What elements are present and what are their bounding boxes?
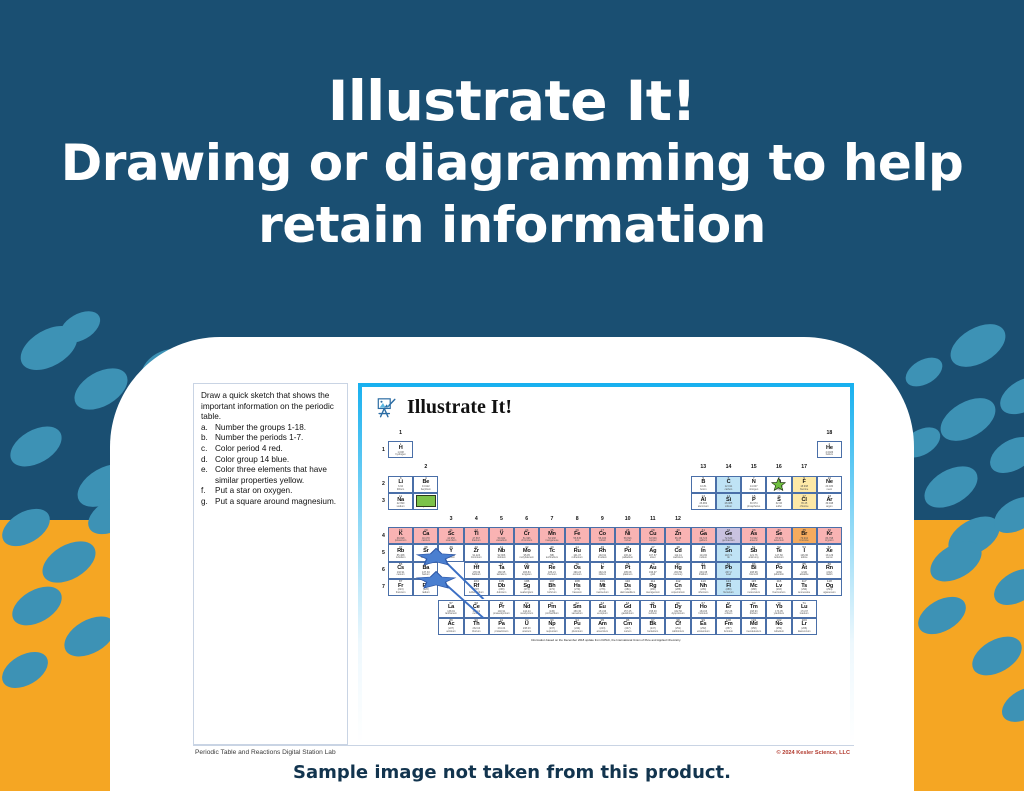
element-name: bromine — [800, 540, 809, 543]
element-name: roentgenium — [646, 592, 660, 595]
grid-spacer — [640, 441, 665, 458]
element-cell[interactable]: 26Fe55.845iron — [565, 527, 590, 544]
period-number-label: 7 — [379, 579, 388, 596]
element-name: strontium — [421, 557, 431, 560]
grid-spacer — [539, 493, 564, 510]
group-number-label: 2 — [413, 458, 438, 475]
element-name: beryllium — [421, 489, 431, 492]
element-cell[interactable]: 42Mo95.95molybdenum — [514, 544, 539, 561]
element-cell[interactable]: 8O15.999oxygen — [766, 476, 791, 493]
element-name: rutherfordium — [469, 592, 484, 595]
element-name: oganesson — [823, 592, 835, 595]
element-cell[interactable]: 91Pa231.04protactinium — [489, 618, 514, 635]
grid-spacer — [590, 476, 615, 493]
element-cell[interactable]: 56Ba137.33barium — [413, 562, 438, 579]
element-cell[interactable]: 110Ds(281)darmstadtium — [615, 579, 640, 596]
group-number-label: 16 — [766, 458, 791, 475]
element-name: platinum — [623, 574, 632, 577]
element-name: mendelevium — [746, 631, 761, 634]
worksheet-footer-right: © 2024 Kesler Science, LLC — [777, 750, 850, 756]
group-number-label: 11 — [640, 510, 665, 527]
element-cell[interactable]: 111Rg(280)roentgenium — [640, 579, 665, 596]
element-cell[interactable]: 115Mc(288)moscovium — [741, 579, 766, 596]
element-name: copper — [649, 540, 657, 543]
element-name: radium — [422, 592, 430, 595]
element-name: americium — [597, 631, 609, 634]
element-cell[interactable]: 40Zr91.224zirconium — [464, 544, 489, 561]
element-cell[interactable]: 105Db(268)dubnium — [489, 579, 514, 596]
element-cell[interactable]: 3Li6.94lithium — [388, 476, 413, 493]
grid-spacer — [615, 493, 640, 510]
element-cell[interactable]: 9F18.998fluorine — [792, 476, 817, 493]
period-number-label: 1 — [379, 441, 388, 458]
element-name: tungsten — [522, 574, 532, 577]
group-number-label: 4 — [464, 510, 489, 527]
element-name: hydrogen — [395, 454, 405, 457]
element-name: cobalt — [599, 540, 606, 543]
element-cell[interactable]: 37Rb85.468rubidium — [388, 544, 413, 561]
grid-spacer — [766, 441, 791, 458]
element-name: tin — [727, 557, 730, 560]
instruction-item: c.Color period 4 red. — [201, 444, 341, 455]
element-cell[interactable]: 48Cd112.41cadmium — [665, 544, 690, 561]
grid-spacer — [464, 493, 489, 510]
element-cell[interactable]: 107Bh(272)bohrium — [539, 579, 564, 596]
instructions-panel: Draw a quick sketch that shows the impor… — [193, 383, 348, 745]
element-name: calcium — [422, 540, 430, 543]
group-number-label: 15 — [741, 458, 766, 475]
element-cell[interactable]: 90Th232.04thorium — [464, 618, 489, 635]
group-number-label: 1 — [388, 424, 413, 441]
element-cell[interactable]: 13Al26.982aluminum — [691, 493, 716, 510]
element-cell[interactable]: 51Sb121.76antimony — [741, 544, 766, 561]
element-cell[interactable]: 32Ge72.630germanium — [716, 527, 741, 544]
grid-spacer — [716, 441, 741, 458]
element-cell[interactable]: 36Kr83.798krypton — [817, 527, 842, 544]
element-name: neon — [827, 489, 833, 492]
grid-spacer — [489, 424, 514, 441]
element-cell[interactable]: 49In114.82indium — [691, 544, 716, 561]
grid-spacer — [640, 493, 665, 510]
element-cell[interactable]: 12Mg24.305magnesium — [413, 493, 438, 510]
group-number-label: 12 — [665, 510, 690, 527]
element-cell[interactable]: 59Pr140.91praseodymium — [489, 600, 514, 617]
element-cell[interactable]: 84Po(209)polonium — [766, 562, 791, 579]
element-cell[interactable]: 77Ir192.22iridium — [590, 562, 615, 579]
grid-spacer — [489, 441, 514, 458]
element-cell[interactable]: 75Re186.21rhenium — [539, 562, 564, 579]
element-cell[interactable]: 20Ca40.078calcium — [413, 527, 438, 544]
element-name: iron — [575, 540, 579, 543]
element-cell[interactable]: 95Am(243)americium — [590, 618, 615, 635]
element-name: mercury — [674, 574, 683, 577]
element-name: nickel — [624, 540, 630, 543]
element-name: gold — [650, 574, 655, 577]
grid-spacer — [741, 424, 766, 441]
element-name: meitnerium — [596, 592, 608, 595]
element-cell[interactable]: 21Sc44.956scandium — [438, 527, 463, 544]
periodic-table-panel: Illustrate It! 11811H1.008hydrogen2He4.0… — [358, 383, 854, 745]
element-cell[interactable]: 82Pb207.2lead — [716, 562, 741, 579]
element-cell[interactable]: 86Rn(222)radon — [817, 562, 842, 579]
element-cell[interactable]: 43Tc(98)technetium — [539, 544, 564, 561]
element-cell[interactable]: 62Sm150.36samarium — [565, 600, 590, 617]
grid-spacer — [665, 441, 690, 458]
group-number-label: 10 — [615, 510, 640, 527]
grid-spacer — [464, 441, 489, 458]
element-cell[interactable]: 116Lv(293)livermorium — [766, 579, 791, 596]
grid-spacer — [792, 424, 817, 441]
element-cell[interactable]: 39Y88.906yttrium — [438, 544, 463, 561]
element-name: iridium — [599, 574, 606, 577]
element-cell[interactable]: 70Yb173.05ytterbium — [766, 600, 791, 617]
element-cell[interactable]: 1H1.008hydrogen — [388, 441, 413, 458]
element-name: carbon — [725, 489, 733, 492]
slide-canvas: Illustrate It! Drawing or diagramming to… — [0, 0, 1024, 791]
element-name: manganese — [545, 540, 558, 543]
element-cell[interactable]: 18Ar39.948argon — [817, 493, 842, 510]
grid-spacer — [817, 510, 842, 527]
element-cell[interactable]: 76Os190.23osmium — [565, 562, 590, 579]
element-cell[interactable]: 28Ni58.693nickel — [615, 527, 640, 544]
element-cell[interactable]: 22Ti47.867titanium — [464, 527, 489, 544]
grid-spacer — [640, 424, 665, 441]
instruction-marker: b. — [201, 433, 215, 444]
element-name: cerium — [473, 613, 481, 616]
group-number-label: 13 — [691, 458, 716, 475]
element-name: osmium — [573, 574, 582, 577]
instruction-item: f.Put a star on oxygen. — [201, 486, 341, 497]
element-cell[interactable]: 19K39.098potassium — [388, 527, 413, 544]
grid-spacer — [413, 510, 438, 527]
element-cell[interactable]: 4Be9.0122beryllium — [413, 476, 438, 493]
element-cell[interactable]: 87Fr(223)francium — [388, 579, 413, 596]
element-cell[interactable]: 63Eu151.96europium — [590, 600, 615, 617]
element-cell[interactable]: 88Ra(226)radium — [413, 579, 438, 596]
grid-spacer — [464, 458, 489, 475]
element-cell[interactable]: 15P30.974phosphorus — [741, 493, 766, 510]
element-name: uranium — [522, 631, 531, 634]
grid-spacer — [565, 424, 590, 441]
element-name: neptunium — [546, 631, 558, 634]
element-cell[interactable]: 78Pt195.08platinum — [615, 562, 640, 579]
element-cell[interactable]: 100Fm(257)fermium — [716, 618, 741, 635]
element-name: cadmium — [673, 557, 683, 560]
element-cell[interactable]: 102No(259)nobelium — [766, 618, 791, 635]
element-cell[interactable]: 54Xe131.29xenon — [817, 544, 842, 561]
element-cell[interactable]: 34Se78.971selenium — [766, 527, 791, 544]
element-name: cesium — [397, 574, 405, 577]
grid-spacer — [640, 476, 665, 493]
element-cell[interactable]: 14Si28.085silicon — [716, 493, 741, 510]
element-cell[interactable]: 38Sr87.62strontium — [413, 544, 438, 561]
grid-spacer — [413, 424, 438, 441]
element-name: iodine — [801, 557, 808, 560]
green-star-marker — [767, 477, 790, 492]
headline-line-3: retain information — [0, 194, 1024, 256]
element-cell[interactable]: 99Es(252)einsteinium — [691, 618, 716, 635]
element-cell[interactable]: 74W183.84tungsten — [514, 562, 539, 579]
element-name: palladium — [622, 557, 633, 560]
element-cell[interactable]: 29Cu63.546copper — [640, 527, 665, 544]
element-name: scandium — [446, 540, 457, 543]
element-cell[interactable]: 97Bk(247)berkelium — [640, 618, 665, 635]
element-cell[interactable]: 10Ne20.180neon — [817, 476, 842, 493]
element-cell[interactable]: 114Fl(289)flerovium — [716, 579, 741, 596]
instruction-text: Color group 14 blue. — [215, 455, 341, 466]
element-cell[interactable]: 108Hs(270)hassium — [565, 579, 590, 596]
element-name: neodymium — [520, 613, 533, 616]
element-name: darmstadtium — [620, 592, 635, 595]
element-cell[interactable]: 69Tm168.93thulium — [741, 600, 766, 617]
element-name: argon — [826, 506, 832, 509]
instruction-item: d.Color group 14 blue. — [201, 455, 341, 466]
element-name: dubnium — [497, 592, 507, 595]
grid-spacer — [489, 476, 514, 493]
element-cell[interactable]: 80Hg200.59mercury — [665, 562, 690, 579]
element-name: dysprosium — [672, 613, 685, 616]
element-cell[interactable]: 58Ce140.12cerium — [464, 600, 489, 617]
grid-spacer — [438, 579, 463, 596]
element-name: thulium — [750, 613, 758, 616]
grid-spacer — [464, 424, 489, 441]
grid-spacer — [438, 458, 463, 475]
instructions-lead: Draw a quick sketch that shows the impor… — [201, 391, 341, 423]
element-cell[interactable]: 113Nh(284)nihonium — [691, 579, 716, 596]
instruction-text: Put a star on oxygen. — [215, 486, 341, 497]
grid-spacer — [691, 441, 716, 458]
grid-spacer — [817, 600, 842, 617]
grid-spacer — [691, 424, 716, 441]
grid-spacer — [615, 441, 640, 458]
grid-spacer — [615, 458, 640, 475]
grid-spacer — [640, 458, 665, 475]
element-cell[interactable]: 46Pd106.42palladium — [615, 544, 640, 561]
element-name: aluminum — [698, 506, 709, 509]
periodic-table-grid: 11811H1.008hydrogen2He4.0026helium213141… — [379, 424, 842, 596]
element-name: gallium — [699, 540, 707, 543]
grid-spacer — [590, 493, 615, 510]
group-number-label: 7 — [539, 510, 564, 527]
element-cell[interactable]: 30Zn65.38zinc — [665, 527, 690, 544]
grid-spacer — [489, 493, 514, 510]
green-square-marker — [416, 495, 436, 507]
element-name: francium — [396, 592, 406, 595]
worksheet-footer: Periodic Table and Reactions Digital Sta… — [193, 745, 854, 759]
period-number-label: 6 — [379, 562, 388, 579]
element-name: praseodymium — [493, 613, 509, 616]
element-cell[interactable]: 61Pm(145)promethium — [539, 600, 564, 617]
instruction-marker: c. — [201, 444, 215, 455]
period-number-label: 3 — [379, 493, 388, 510]
element-cell[interactable]: 50Sn118.71tin — [716, 544, 741, 561]
element-name: silicon — [725, 506, 732, 509]
instruction-text: Number the groups 1-18. — [215, 423, 341, 434]
element-name: hassium — [573, 592, 582, 595]
grid-spacer — [539, 424, 564, 441]
periodic-table-inner: Illustrate It! 11811H1.008hydrogen2He4.0… — [362, 387, 850, 741]
element-cell[interactable]: 35Br79.904bromine — [792, 527, 817, 544]
element-name: californium — [672, 631, 684, 634]
period-number-label: 2 — [379, 476, 388, 493]
element-name: tantalum — [497, 574, 507, 577]
instruction-text: Color period 4 red. — [215, 444, 341, 455]
element-name: rubidium — [396, 557, 406, 560]
element-cell[interactable]: 2He4.0026helium — [817, 441, 842, 458]
grid-spacer — [489, 458, 514, 475]
element-cell[interactable]: 55Cs132.91cesium — [388, 562, 413, 579]
grid-spacer — [741, 441, 766, 458]
grid-spacer — [539, 458, 564, 475]
element-cell[interactable]: 72Hf178.49hafnium — [464, 562, 489, 579]
element-name: xenon — [826, 557, 833, 560]
element-cell[interactable]: 92U238.03uranium — [514, 618, 539, 635]
headline-line-1: Illustrate It! — [0, 70, 1024, 132]
element-cell[interactable]: 57La138.91lanthanum — [438, 600, 463, 617]
instruction-marker: f. — [201, 486, 215, 497]
element-name: antimony — [749, 557, 759, 560]
slide-caption: Sample image not taken from this product… — [0, 762, 1024, 783]
grid-spacer — [615, 476, 640, 493]
element-name: radon — [826, 574, 832, 577]
element-cell[interactable]: 17Cl35.45chlorine — [792, 493, 817, 510]
element-cell[interactable]: 89Ac(227)actinium — [438, 618, 463, 635]
element-cell[interactable]: 16S32.06sulfur — [766, 493, 791, 510]
grid-spacer — [388, 458, 413, 475]
element-cell[interactable]: 31Ga69.723gallium — [691, 527, 716, 544]
element-cell[interactable]: 93Np(237)neptunium — [539, 618, 564, 635]
element-cell[interactable]: 101Md(258)mendelevium — [741, 618, 766, 635]
element-cell[interactable]: 104Rf(267)rutherfordium — [464, 579, 489, 596]
periodic-table-wrap: 11811H1.008hydrogen2He4.0026helium213141… — [370, 424, 842, 635]
group-number-label: 3 — [438, 510, 463, 527]
element-cell[interactable]: 109Mt(276)meitnerium — [590, 579, 615, 596]
element-cell[interactable]: 71Lu174.97lutetium — [792, 600, 817, 617]
element-cell[interactable]: 47Ag107.87silver — [640, 544, 665, 561]
group-number-label: 5 — [489, 510, 514, 527]
grid-spacer — [388, 618, 438, 635]
element-cell[interactable]: 85At(210)astatine — [792, 562, 817, 579]
element-name: seaborgium — [520, 592, 533, 595]
element-cell[interactable]: 44Ru101.07ruthenium — [565, 544, 590, 561]
element-cell[interactable]: 33As74.922arsenic — [741, 527, 766, 544]
element-cell[interactable]: 103Lr(266)lawrencium — [792, 618, 817, 635]
element-name: terbium — [649, 613, 657, 616]
element-cell[interactable]: 67Ho164.93holmium — [691, 600, 716, 617]
grid-spacer — [565, 441, 590, 458]
grid-spacer — [590, 458, 615, 475]
grid-spacer — [741, 510, 766, 527]
element-name: fermium — [724, 631, 733, 634]
grid-spacer — [514, 424, 539, 441]
element-cell[interactable]: 53I126.90iodine — [792, 544, 817, 561]
element-cell[interactable]: 79Au196.97gold — [640, 562, 665, 579]
worksheet-footer-left: Periodic Table and Reactions Digital Sta… — [195, 749, 336, 756]
element-name: rhodium — [598, 557, 607, 560]
element-name: rhenium — [547, 574, 556, 577]
element-cell[interactable]: 83Bi208.98bismuth — [741, 562, 766, 579]
easel-icon — [376, 397, 398, 419]
grid-spacer — [514, 476, 539, 493]
instruction-text: Put a square around magnesium. — [215, 497, 341, 508]
element-name: protactinium — [495, 631, 509, 634]
element-cell[interactable]: 81Tl204.38thallium — [691, 562, 716, 579]
element-cell[interactable]: 106Sg(271)seaborgium — [514, 579, 539, 596]
element-cell[interactable]: 45Rh102.91rhodium — [590, 544, 615, 561]
element-cell[interactable]: 41Nb92.906niobium — [489, 544, 514, 561]
element-cell[interactable]: 112Cn(285)copernicium — [665, 579, 690, 596]
element-cell[interactable]: 117Ts(294)tennessine — [792, 579, 817, 596]
element-cell[interactable]: 24Cr51.996chromium — [514, 527, 539, 544]
element-name: lithium — [397, 489, 404, 492]
element-name: actinium — [446, 631, 455, 634]
element-name: polonium — [774, 574, 784, 577]
element-cell[interactable]: 73Ta180.95tantalum — [489, 562, 514, 579]
element-cell[interactable]: 98Cf(251)californium — [665, 618, 690, 635]
grid-spacer — [817, 618, 842, 635]
grid-spacer — [766, 510, 791, 527]
element-cell[interactable]: 25Mn54.938manganese — [539, 527, 564, 544]
element-cell[interactable]: 52Te127.60tellurium — [766, 544, 791, 561]
element-name: helium — [826, 454, 833, 457]
element-cell[interactable]: 27Co58.933cobalt — [590, 527, 615, 544]
element-name: barium — [422, 574, 430, 577]
grid-spacer — [379, 510, 388, 527]
slide-headline: Illustrate It! Drawing or diagramming to… — [0, 70, 1024, 256]
element-cell[interactable]: 11Na22.990sodium — [388, 493, 413, 510]
element-name: erbium — [725, 613, 733, 616]
worksheet-body: Draw a quick sketch that shows the impor… — [193, 383, 854, 745]
element-cell[interactable]: 5B10.81boron — [691, 476, 716, 493]
element-name: phosphorus — [747, 506, 760, 509]
element-cell[interactable]: 118Og(294)oganesson — [817, 579, 842, 596]
element-cell[interactable]: 66Dy162.50dysprosium — [665, 600, 690, 617]
grid-spacer — [590, 424, 615, 441]
group-number-label: 17 — [792, 458, 817, 475]
element-name: chromium — [521, 540, 532, 543]
element-name: astatine — [800, 574, 809, 577]
element-name: selenium — [774, 540, 784, 543]
element-cell[interactable]: 7N14.007nitrogen — [741, 476, 766, 493]
group-number-label: 18 — [817, 424, 842, 441]
grid-spacer — [792, 441, 817, 458]
element-name: holmium — [699, 613, 708, 616]
element-cell[interactable]: 65Tb158.93terbium — [640, 600, 665, 617]
element-cell[interactable]: 94Pu(244)plutonium — [565, 618, 590, 635]
element-cell[interactable]: 6C12.011carbon — [716, 476, 741, 493]
element-cell[interactable]: 68Er167.26erbium — [716, 600, 741, 617]
grid-spacer — [438, 562, 463, 579]
grid-spacer — [565, 493, 590, 510]
element-cell[interactable]: 60Nd144.24neodymium — [514, 600, 539, 617]
element-name: curium — [624, 631, 632, 634]
grid-spacer — [388, 510, 413, 527]
element-name: lead — [726, 574, 731, 577]
grid-spacer — [766, 424, 791, 441]
element-cell[interactable]: 23V50.942vanadium — [489, 527, 514, 544]
element-name: tellurium — [774, 557, 783, 560]
period-number-label: 4 — [379, 527, 388, 544]
instruction-marker: d. — [201, 455, 215, 466]
element-cell[interactable]: 96Cm(247)curium — [615, 618, 640, 635]
element-name: fluorine — [800, 489, 808, 492]
element-name: indium — [700, 557, 707, 560]
element-cell[interactable]: 64Gd157.25gadolinium — [615, 600, 640, 617]
element-name: promethium — [545, 613, 558, 616]
grid-spacer — [665, 424, 690, 441]
grid-spacer — [665, 476, 690, 493]
element-name: krypton — [825, 540, 833, 543]
